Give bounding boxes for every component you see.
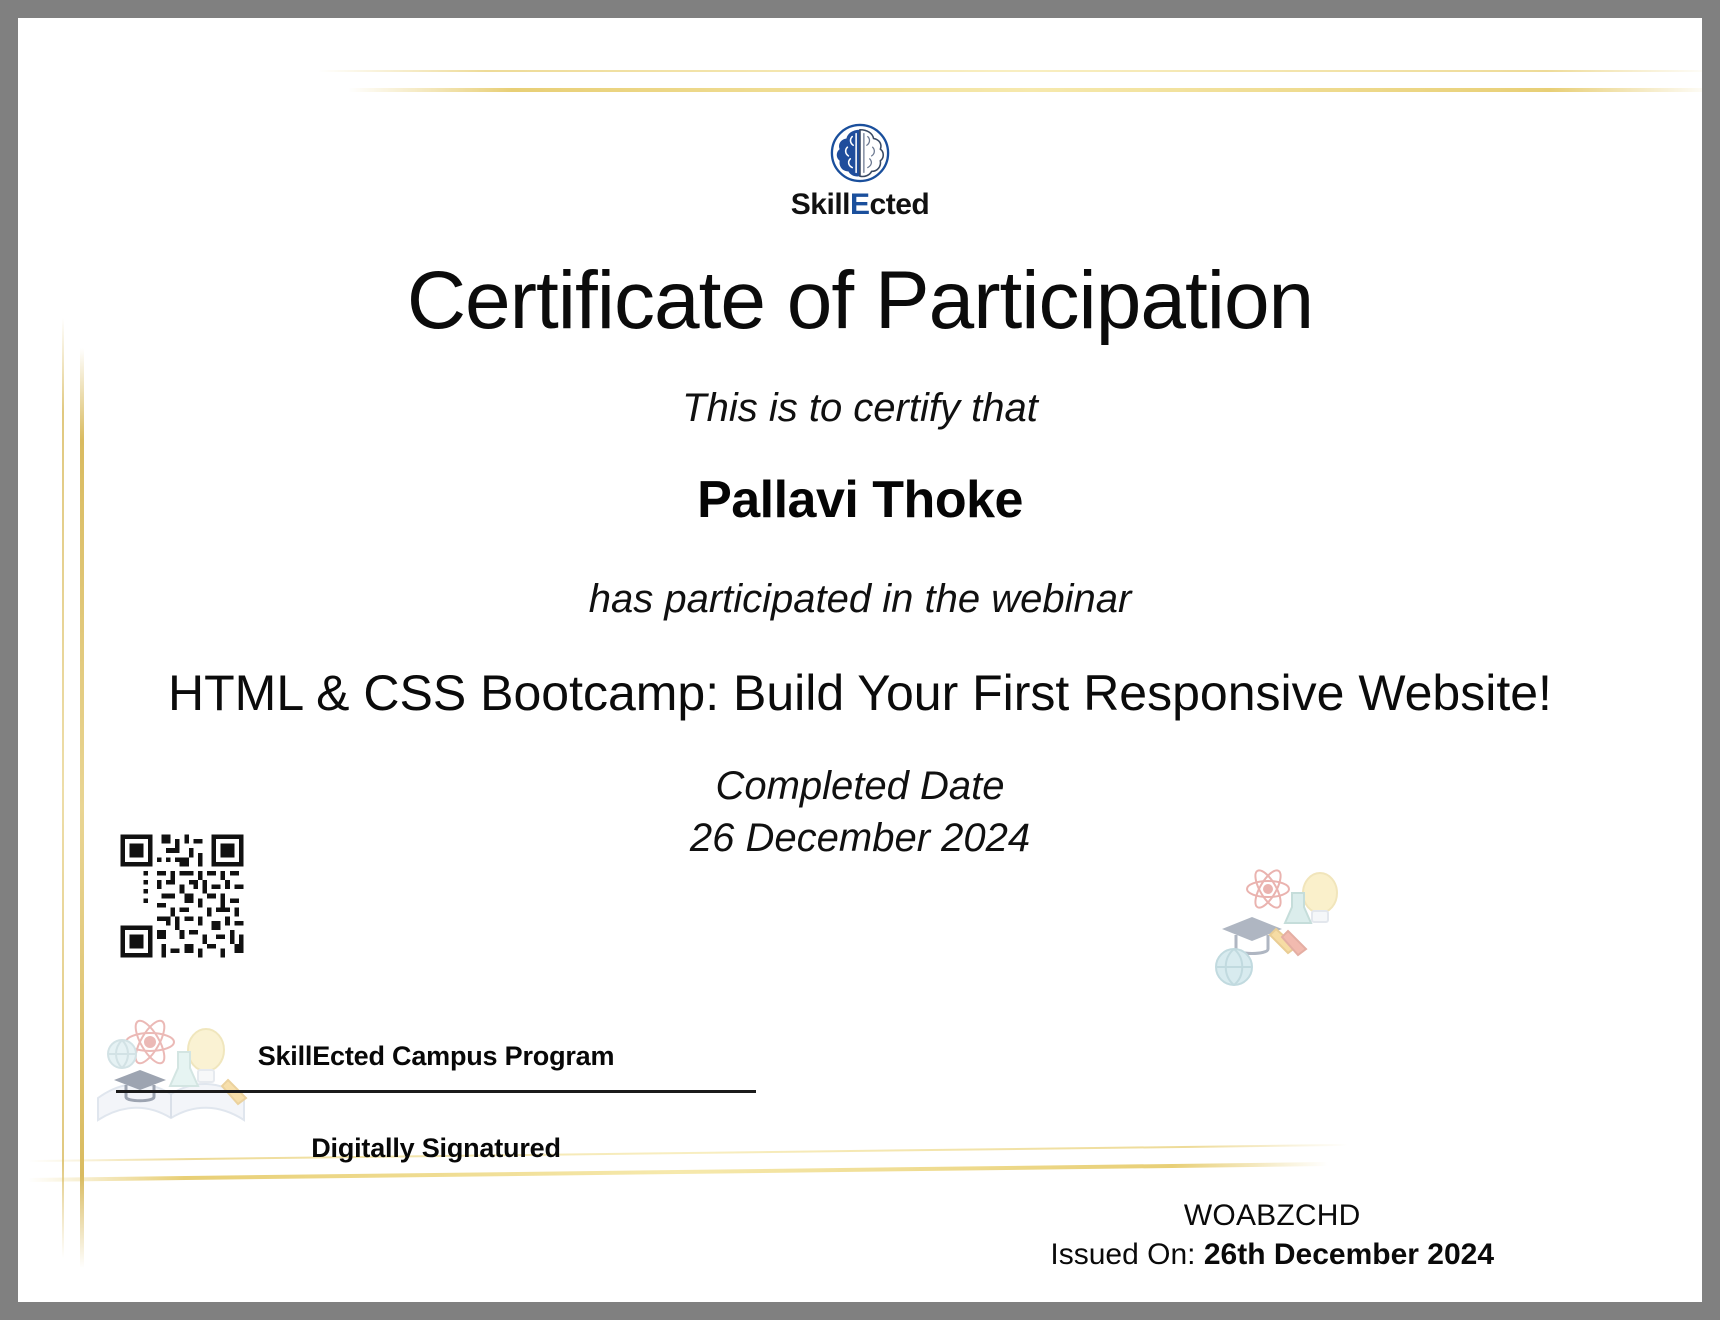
certificate-content: Certificate of Participation This is to … (138, 258, 1582, 864)
signature-divider-line (116, 1090, 756, 1093)
brain-icon (829, 122, 891, 184)
issued-on-value: 26th December 2024 (1204, 1238, 1494, 1271)
certificate-root: SkillEcted Certificate of Participation … (0, 0, 1720, 1320)
course-title: HTML & CSS Bootcamp: Build Your First Re… (138, 663, 1582, 724)
brand-logo: SkillEcted (18, 122, 1702, 220)
completed-date-value: 26 December 2024 (138, 812, 1582, 864)
brand-name-part1: Skill (791, 188, 850, 221)
gold-rule-bottom-inner (28, 1162, 1328, 1182)
signature-caption: Digitally Signatured (116, 1133, 756, 1164)
gold-rule-left-inner (80, 348, 84, 1268)
issued-on-line: Issued On: 26th December 2024 (1050, 1236, 1494, 1274)
participation-line: has participated in the webinar (138, 575, 1582, 623)
completed-date-label: Completed Date (138, 760, 1582, 812)
gold-rule-top-inner (348, 88, 1702, 92)
certificate-title: Certificate of Participation (138, 258, 1582, 344)
certificate-code: WOABZCHD (1050, 1197, 1494, 1235)
gold-rule-left-outer (62, 318, 64, 1258)
issue-block: WOABZCHD Issued On: 26th December 2024 (1050, 1197, 1494, 1274)
signature-block: SkillEcted Campus Program Digitally Sign… (116, 1041, 756, 1164)
brand-name-part2: cted (870, 188, 930, 221)
issued-on-label: Issued On: (1050, 1238, 1195, 1271)
brand-name: SkillEcted (791, 190, 929, 220)
gold-rule-top-outer (318, 70, 1702, 72)
verification-qr-code[interactable] (114, 830, 250, 962)
recipient-name: Pallavi Thoke (138, 472, 1582, 529)
certificate-page: SkillEcted Certificate of Participation … (18, 18, 1702, 1302)
brand-name-accent: E (850, 188, 870, 221)
certify-line: This is to certify that (138, 384, 1582, 432)
education-icons-cluster-bottom-right (1192, 867, 1372, 1002)
signature-organization: SkillEcted Campus Program (116, 1041, 756, 1090)
